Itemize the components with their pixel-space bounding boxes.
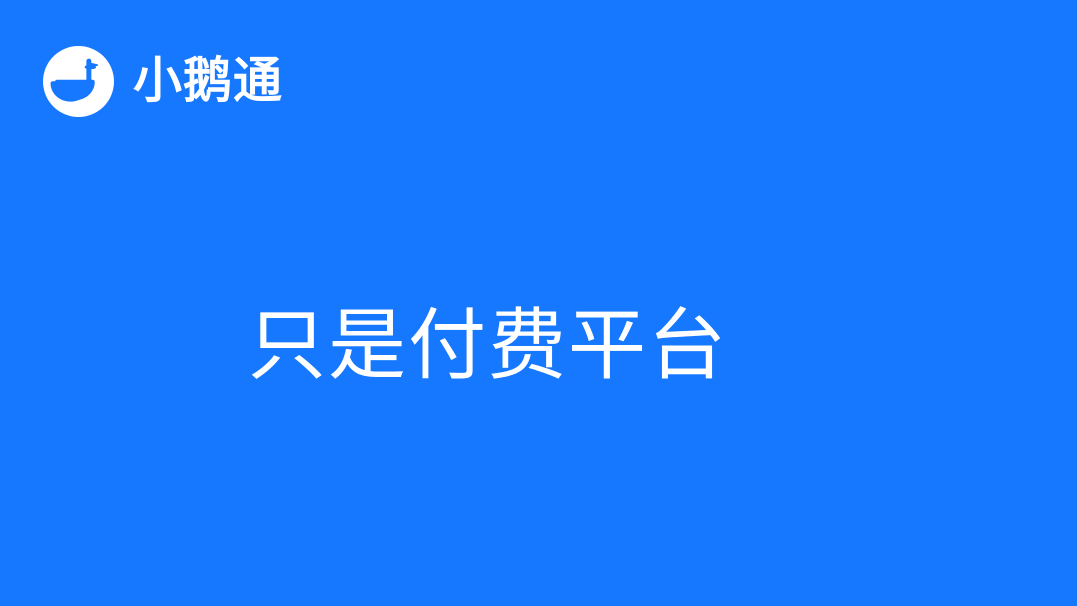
brand-wordmark: 小鹅通 [133, 57, 283, 106]
headline-text: 只是付费平台 [248, 303, 728, 389]
brand-lockup: 小鹅通 [43, 45, 283, 117]
goose-circle-logo-icon [43, 46, 114, 117]
slide-canvas: 小鹅通 只是付费平台 [0, 0, 1077, 606]
